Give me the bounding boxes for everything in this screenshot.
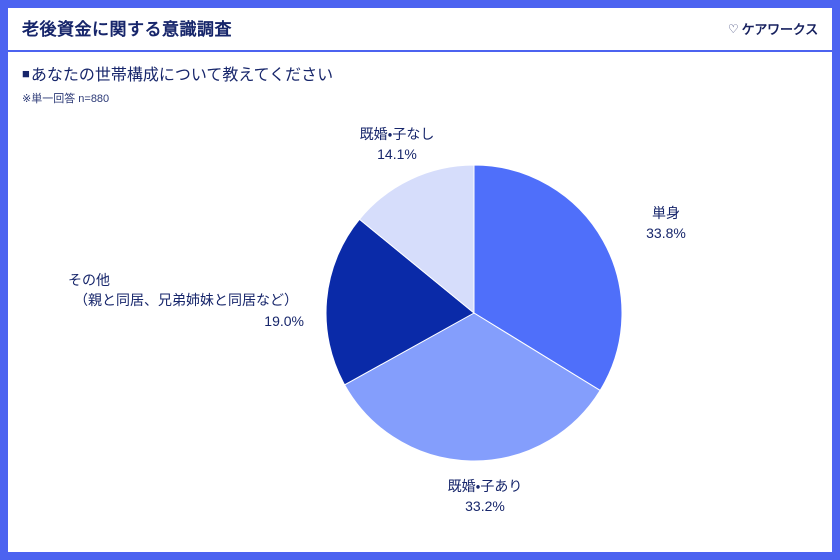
slide-frame: 老後資金に関する意識調査 ♡ ケアワークス ■あなたの世帯構成について教えてくだ… xyxy=(0,0,840,560)
slice-label-text: 既婚・子あり xyxy=(448,478,523,494)
slice-label-text-detail: （親と同居、兄弟姉妹と同居など） xyxy=(30,290,310,310)
pie-chart: 既婚・子なし 14.1% 単身 33.8% 既婚・子あり 33.2% その他 （… xyxy=(8,108,832,552)
heart-icon: ♡ xyxy=(728,23,739,35)
page-title: 老後資金に関する意識調査 xyxy=(22,21,232,38)
slice-label-married-with-kids: 既婚・子あり 33.2% xyxy=(390,476,580,517)
slice-label-value: 33.2% xyxy=(390,496,580,516)
slide-canvas: 老後資金に関する意識調査 ♡ ケアワークス ■あなたの世帯構成について教えてくだ… xyxy=(8,8,832,552)
question-note: ※単一回答 n=880 xyxy=(22,93,109,106)
slice-label-value: 14.1% xyxy=(297,144,497,164)
slice-label-single: 単身 33.8% xyxy=(606,203,726,244)
pie-svg xyxy=(326,165,622,461)
question-heading: ■あなたの世帯構成について教えてください xyxy=(22,66,333,85)
brand-name: ケアワークス xyxy=(742,23,818,36)
slice-label-text: 単身 xyxy=(652,205,680,221)
slice-label-married-no-kids: 既婚・子なし 14.1% xyxy=(297,124,497,165)
slide-header: 老後資金に関する意識調査 ♡ ケアワークス xyxy=(8,8,832,52)
slice-label-value: 33.8% xyxy=(606,223,726,243)
slice-label-text: その他 xyxy=(30,270,310,290)
brand-logo: ♡ ケアワークス xyxy=(728,23,818,36)
slice-label-value: 19.0% xyxy=(30,311,310,331)
question-text: あなたの世帯構成について教えてください xyxy=(31,67,333,84)
slice-label-text: 既婚・子なし xyxy=(360,126,435,142)
pie-graphic xyxy=(326,165,622,461)
slice-label-other: その他 （親と同居、兄弟姉妹と同居など） 19.0% xyxy=(30,270,310,331)
bullet-square-icon: ■ xyxy=(22,66,30,81)
